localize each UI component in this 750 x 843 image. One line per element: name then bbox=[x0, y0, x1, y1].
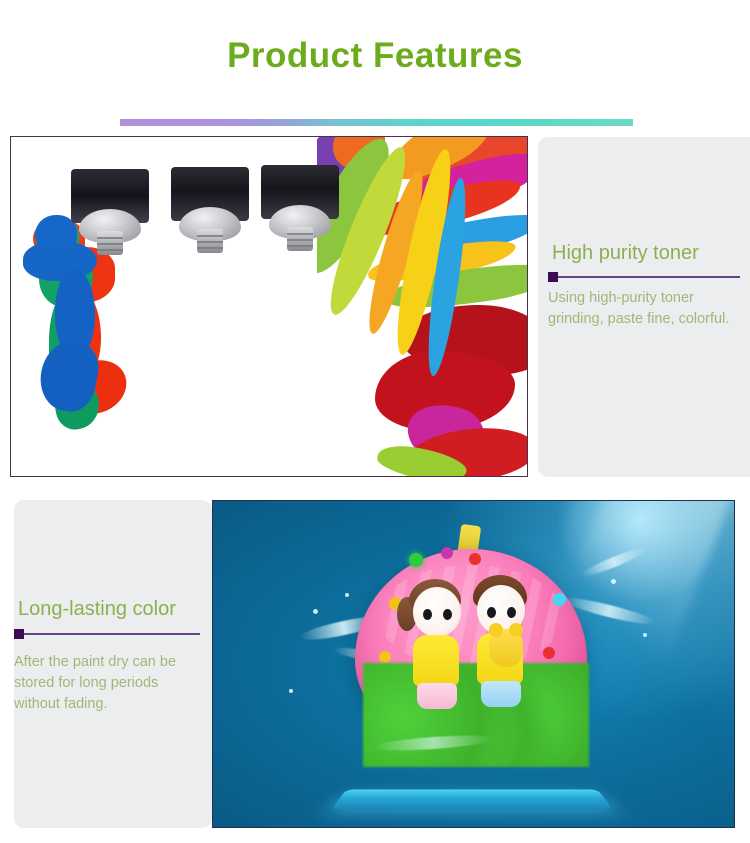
feature-accent-rule bbox=[548, 272, 740, 282]
feature-accent-rule bbox=[14, 629, 200, 639]
feature-body-high-purity-toner: Using high-purity toner grinding, paste … bbox=[548, 288, 744, 330]
decor-gem bbox=[469, 553, 481, 565]
page-title: Product Features bbox=[0, 36, 750, 76]
paint-tubes-photo bbox=[10, 136, 528, 477]
feature-heading-high-purity-toner: High purity toner bbox=[552, 242, 699, 265]
water-droplet bbox=[345, 593, 349, 597]
decor-gem bbox=[543, 647, 555, 659]
gradient-divider bbox=[120, 119, 633, 126]
decor-gem bbox=[441, 547, 453, 559]
water-droplet bbox=[643, 633, 647, 637]
paint-splash-graphic bbox=[317, 137, 527, 476]
craft-toy-photo bbox=[212, 500, 735, 828]
decor-gem bbox=[553, 593, 566, 606]
toy-base-platform bbox=[331, 789, 613, 809]
water-droplet bbox=[313, 609, 318, 614]
water-droplet bbox=[611, 579, 616, 584]
feature-heading-long-lasting-color: Long-lasting color bbox=[18, 598, 176, 621]
teddy-bear-toy bbox=[489, 629, 523, 667]
product-features-page: Product Features bbox=[0, 0, 750, 843]
green-foliage bbox=[363, 663, 589, 767]
decor-gem bbox=[379, 651, 391, 663]
accent-square-icon bbox=[548, 272, 558, 282]
water-droplet bbox=[289, 689, 293, 693]
accent-square-icon bbox=[14, 629, 24, 639]
decor-gem bbox=[409, 553, 423, 567]
feature-body-long-lasting-color: After the paint dry can be stored for lo… bbox=[14, 652, 198, 715]
accent-line bbox=[558, 276, 740, 278]
accent-line bbox=[24, 633, 200, 635]
